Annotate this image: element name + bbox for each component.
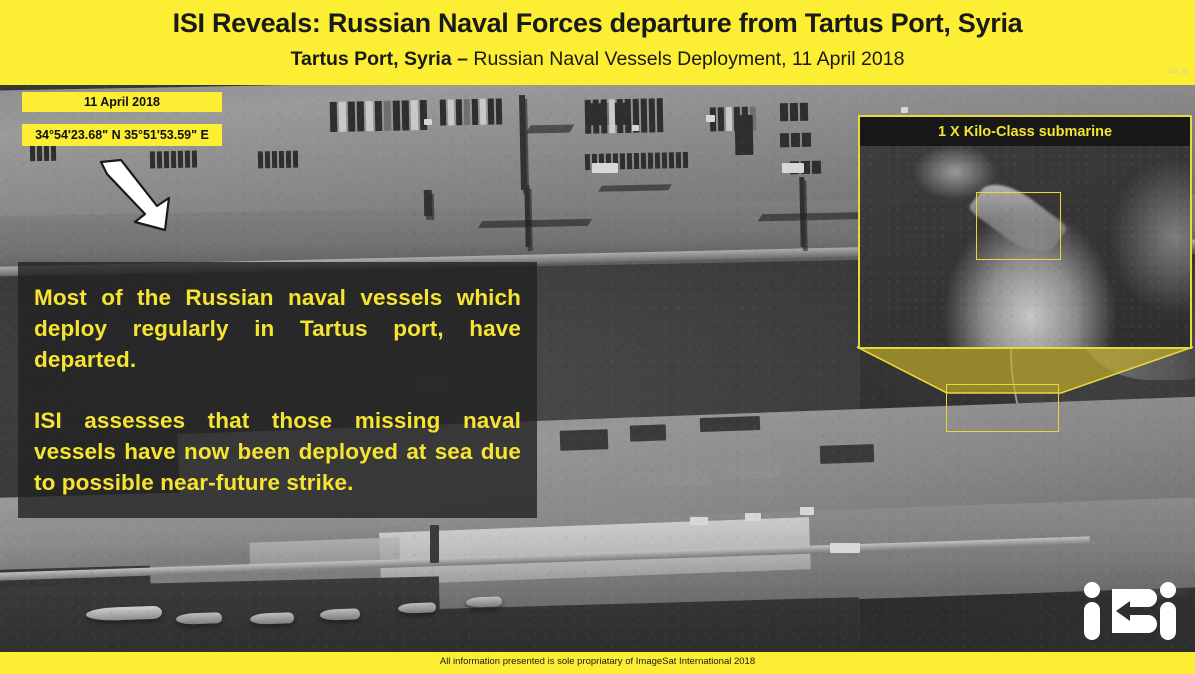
crane-base — [424, 190, 433, 216]
vessel — [398, 602, 436, 613]
crane-shadow — [526, 124, 575, 133]
submarine-callout-box — [946, 384, 1059, 432]
annotation-paragraph-2: ISI assesses that those missing naval ve… — [34, 405, 521, 498]
pointer-arrow-icon — [95, 158, 180, 238]
container-stack — [735, 115, 754, 155]
vessel — [466, 596, 502, 607]
scale-bar-label: 40 m — [1169, 67, 1189, 76]
vehicle — [592, 163, 618, 173]
vessel — [320, 608, 360, 620]
subtitle-location: Tartus Port, Syria – — [291, 48, 474, 70]
vessel — [176, 612, 222, 625]
coordinates-label: 34°54'23.68" N 35°51'53.59" E — [22, 124, 222, 146]
page-subtitle: Tartus Port, Syria – Russian Naval Vesse… — [0, 48, 1195, 71]
page-title: ISI Reveals: Russian Naval Forces depart… — [0, 8, 1195, 39]
container-row — [780, 103, 808, 122]
footer-banner: All information presented is sole propri… — [0, 652, 1195, 674]
warehouse — [560, 429, 609, 451]
header-banner: ISI Reveals: Russian Naval Forces depart… — [0, 0, 1195, 85]
vehicle — [706, 115, 715, 122]
isi-logo-icon — [1082, 581, 1178, 641]
annotation-panel: Most of the Russian naval vessels which … — [18, 262, 537, 518]
subtitle-detail: Russian Naval Vessels Deployment, 11 Apr… — [473, 48, 904, 70]
vehicle — [901, 107, 908, 113]
inset-panel-submarine: 1 X Kilo-Class submarine — [858, 115, 1192, 349]
vehicle — [800, 507, 814, 515]
vehicle — [745, 513, 761, 521]
container-row — [258, 151, 298, 169]
copyright-notice: All information presented is sole propri… — [0, 656, 1195, 667]
date-label: 11 April 2018 — [22, 92, 222, 112]
vehicle — [782, 163, 804, 173]
vehicle — [632, 125, 639, 131]
mast-shadow — [430, 525, 439, 563]
structure — [620, 463, 711, 488]
vehicle — [690, 517, 708, 525]
infographic-page: ISI Reveals: Russian Naval Forces depart… — [0, 0, 1195, 674]
warehouse — [630, 424, 667, 441]
container-row — [780, 133, 811, 148]
warehouse — [700, 416, 760, 432]
structure — [820, 444, 875, 464]
container-row — [585, 98, 664, 134]
vehicle — [830, 543, 860, 553]
container-row — [330, 100, 428, 132]
vessel — [250, 612, 294, 625]
inset-highlight-box — [976, 192, 1061, 260]
structure — [720, 458, 781, 480]
container-row — [440, 98, 503, 125]
annotation-paragraph-1: Most of the Russian naval vessels which … — [34, 282, 521, 375]
vehicle — [424, 119, 432, 125]
inset-caption: 1 X Kilo-Class submarine — [860, 117, 1190, 146]
